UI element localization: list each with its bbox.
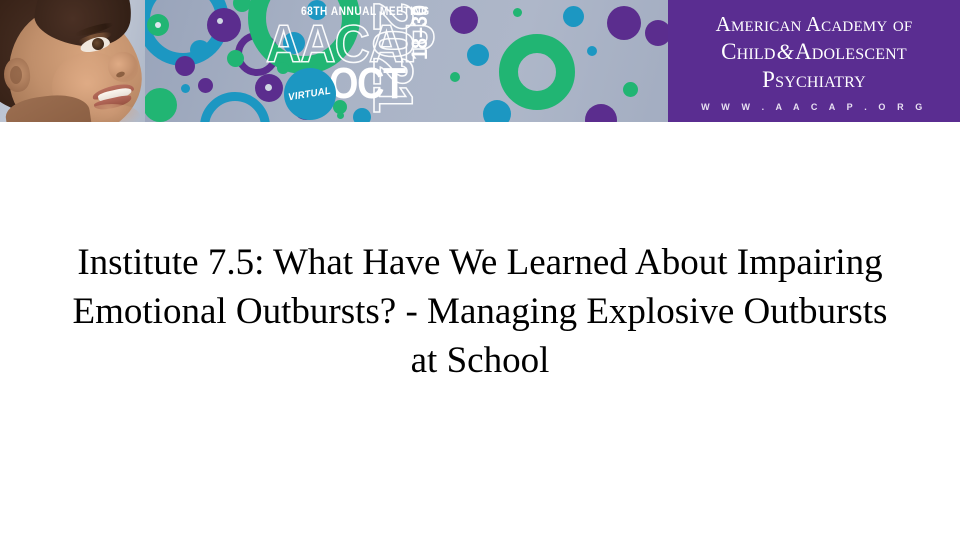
decorative-dot-white-dot2 [217,18,223,24]
decorative-dot-violet-large [207,8,241,42]
photo-iris [92,38,104,50]
year-label: 2021 [365,2,421,112]
decorative-dot-teal-tiny [181,84,190,93]
photo-ear-inner [10,66,22,84]
decorative-dot-violet-small [198,78,213,93]
decorative-ring-green-right [499,34,575,110]
conference-banner: 68TH ANNUAL MEETING AACAP OCT 18–30 2021… [0,0,960,122]
logo-line-2-child: Child [721,39,776,64]
decorative-dot-violet [175,56,195,76]
decorative-dot-green-right2 [623,82,638,97]
virtual-badge: VIRTUAL [284,68,336,120]
decorative-dot-teal-right-tiny [587,46,597,56]
decorative-dot-violet-right3 [585,104,617,122]
slide-title: Institute 7.5: What Have We Learned Abou… [60,238,900,385]
decorative-dot-white-dot3 [265,84,272,91]
ampersand-glyph: & [776,39,795,64]
photo-nose [108,52,138,82]
decorative-dot-teal-right2 [467,44,489,66]
photo-chin [84,104,140,122]
decorative-dot-green-mid2 [227,50,244,67]
aacap-logo-panel: American Academy of Child&Adolescent Psy… [668,0,960,122]
child-looking-up-photo [0,0,145,122]
decorative-dot-green-mid [145,88,177,122]
logo-line-1: American Academy of [668,14,960,35]
decorative-dot-teal-right1 [563,6,584,27]
logo-line-2: Child&Adolescent [668,40,960,63]
decorative-dot-green-right-tiny2 [450,72,460,82]
decorative-dot-white-small [155,22,161,28]
virtual-badge-label: VIRTUAL [288,85,332,103]
logo-line-3: Psychiatry [668,68,960,91]
decorative-dot-teal [190,40,210,60]
decorative-dot-violet-right2 [607,6,641,40]
slide-content-area: Institute 7.5: What Have We Learned Abou… [0,122,960,540]
decorative-dot-green-badge [337,112,344,119]
logo-website-url: W W W . A A C A P . O R G [668,102,960,112]
decorative-dot-green-right-tiny [513,8,522,17]
decorative-dot-violet-right1 [450,6,478,34]
banner-graphic-panel: 68TH ANNUAL MEETING AACAP OCT 18–30 2021… [145,0,668,122]
decorative-dot-teal-right3 [483,100,511,122]
logo-line-2-adolescent: Adolescent [795,39,907,64]
decorative-dot-violet-edge [645,20,668,46]
